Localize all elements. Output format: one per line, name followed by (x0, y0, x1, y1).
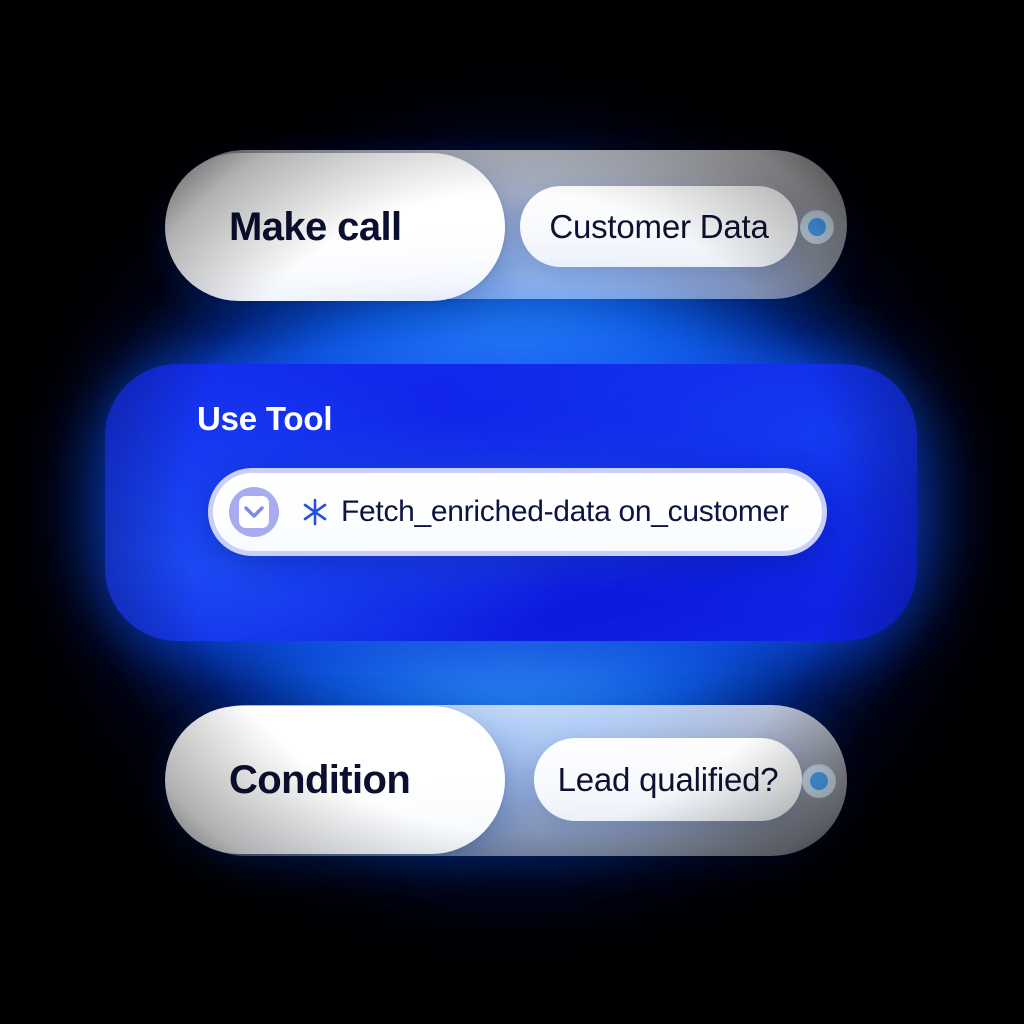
condition-value: Lead qualified? (558, 761, 779, 799)
condition-label: Condition (229, 758, 410, 803)
chevron-down-badge-icon (229, 487, 279, 537)
workflow-canvas: Make call Customer Data Use Tool (0, 0, 1024, 1024)
asterisk-icon (301, 497, 329, 527)
make-call-status-dot[interactable] (800, 210, 834, 244)
make-call-value: Customer Data (549, 208, 768, 246)
use-tool-label: Use Tool (197, 400, 332, 438)
use-tool-input[interactable]: Fetch_enriched-data on_customer (208, 468, 827, 556)
condition-status-dot[interactable] (802, 764, 836, 798)
chevron-down-badge-inner (239, 496, 269, 528)
condition-label-pill[interactable]: Condition (165, 706, 505, 854)
make-call-value-pill[interactable]: Customer Data (520, 186, 798, 267)
use-tool-input-text: Fetch_enriched-data on_customer (341, 495, 789, 529)
status-dot-icon (810, 772, 828, 790)
status-dot-icon (808, 218, 826, 236)
condition-value-pill[interactable]: Lead qualified? (534, 738, 802, 821)
make-call-label: Make call (229, 205, 402, 250)
make-call-label-pill[interactable]: Make call (165, 153, 505, 301)
node-use-tool[interactable]: Use Tool Fetch_enriched-d (105, 364, 917, 641)
